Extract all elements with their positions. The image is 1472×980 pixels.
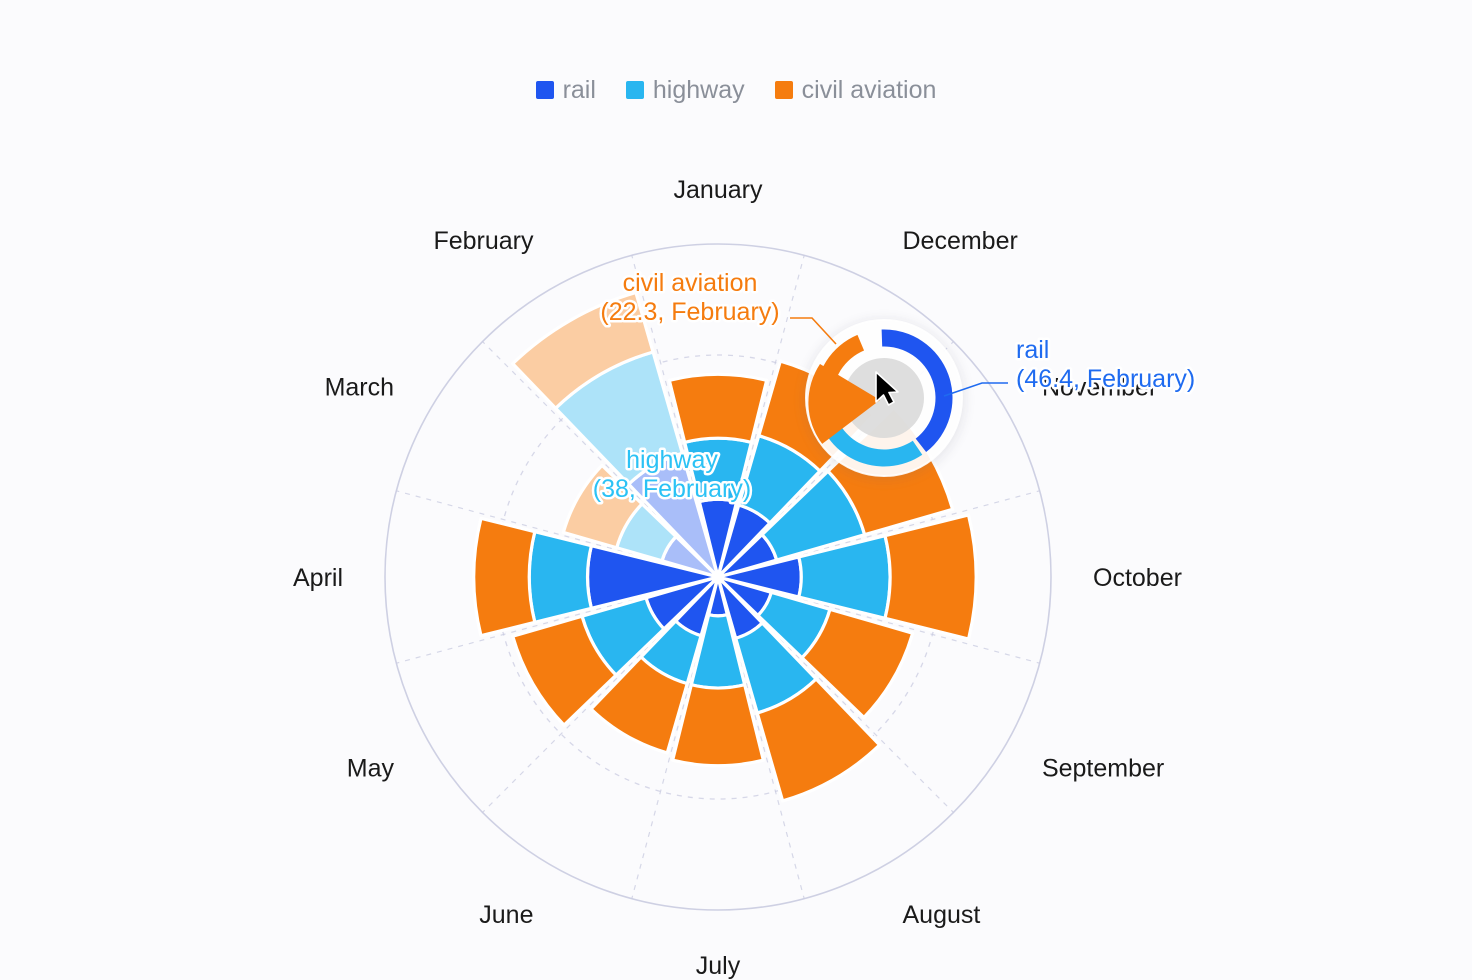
angle-axis-label-october: October [1093,564,1182,592]
tooltip-value-category: (38, February) [593,475,751,503]
angle-axis-label-january: January [674,176,763,204]
angle-axis-label-february: February [433,227,534,255]
angle-axis-label-march: March [325,374,394,402]
tooltip-value-category: (22.3, February) [600,298,779,326]
tooltip-series-name: rail [1016,336,1049,364]
tooltip-rail: rail(46.4, February) [944,336,1195,396]
tooltip-series-name: civil aviation [623,269,758,297]
angle-axis-label-september: September [1042,755,1164,783]
angle-axis-label-december: December [903,227,1018,255]
chart-page: { "colors": { "rail": "#1f55f0", "highwa… [0,0,1472,980]
sector-civil-aviation-october[interactable] [885,515,976,639]
tooltip-value-category: (46.4, February) [1016,365,1195,393]
polar-stacked-bar-chart[interactable]: JanuaryFebruaryMarchAprilMayJuneJulyAugu… [0,0,1472,980]
sector-civil-aviation-april[interactable] [474,518,535,635]
hover-magnifier [806,320,962,476]
tooltip-leader-civil-aviation [790,318,836,344]
tooltip-series-name: highway [626,446,718,474]
sector-civil-aviation-january[interactable] [669,374,766,442]
sector-highway-april[interactable] [529,532,591,623]
angle-axis-label-june: June [479,901,533,929]
angle-axis-label-may: May [347,755,395,783]
angle-axis-label-july: July [696,952,741,980]
angle-axis-label-april: April [293,564,343,592]
angle-axis-label-august: August [903,901,981,929]
